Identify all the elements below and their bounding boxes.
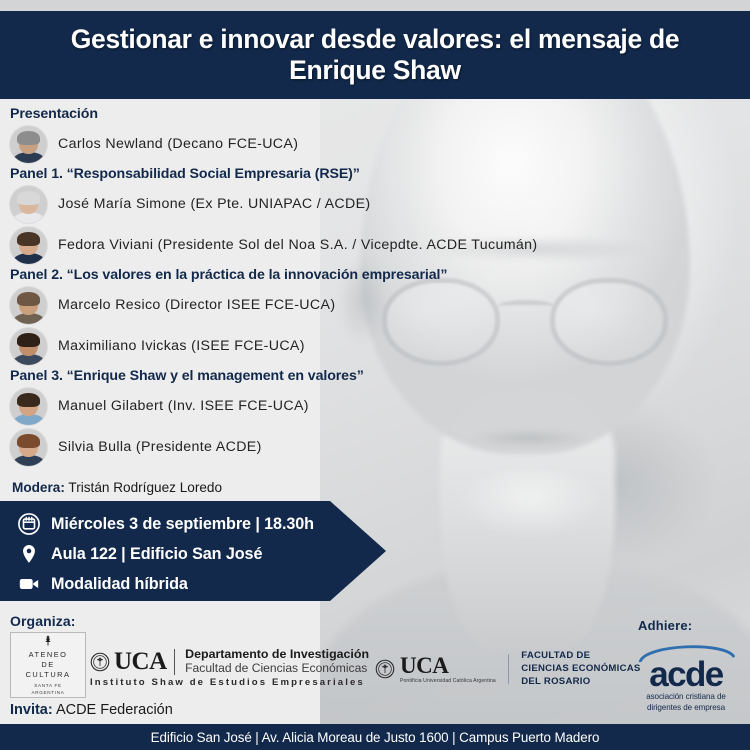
moderator-name: Tristán Rodríguez Loredo: [68, 480, 222, 495]
uca-rosario-line-2: CIENCIAS ECONÓMICAS: [521, 663, 640, 676]
organiza-label: Organiza:: [10, 613, 75, 629]
moderator-label: Modera:: [12, 480, 65, 495]
invita-label-bold: Invita:: [10, 702, 53, 718]
uca-rosario-seal-icon: [375, 659, 395, 679]
invita-value: ACDE Federación: [56, 702, 173, 718]
acde-tagline-1: asociación cristiana de: [632, 692, 740, 702]
avatar-hair: [17, 393, 40, 407]
page-title: Gestionar e innovar desde valores: el me…: [26, 24, 724, 85]
uca-seal-icon: [90, 652, 110, 672]
avatar-manuel-gilabert: [10, 388, 47, 425]
avatar-marcelo-resico: [10, 287, 47, 324]
uca-rosario-tiny-text: Pontificia Universidad Católica Argentin…: [400, 678, 496, 684]
avatar-hair: [17, 232, 40, 246]
acde-tagline-2: dirigentes de empresa: [632, 703, 740, 713]
video-camera-icon: [18, 573, 40, 595]
speaker-row: Maximiliano Ivickas (ISEE FCE-UCA): [10, 327, 640, 365]
ateneo-sub-1: SANTA FE: [34, 683, 61, 689]
programme-list: PresentaciónCarlos Newland (Decano FCE-U…: [0, 104, 640, 495]
top-strip: [0, 0, 750, 11]
panel-heading: Panel 3. “Enrique Shaw y el management e…: [10, 368, 640, 384]
uca-rosario-line-3: DEL ROSARIO: [521, 676, 640, 689]
avatar-fedora-viviani: [10, 227, 47, 264]
speaker-name: Maximiliano Ivickas (ISEE FCE-UCA): [58, 338, 305, 354]
speaker-name: José María Simone (Ex Pte. UNIAPAC / ACD…: [58, 196, 370, 212]
speaker-row: Silvia Bulla (Presidente ACDE): [10, 428, 640, 466]
event-poster: Gestionar e innovar desde valores: el me…: [0, 0, 750, 750]
speaker-row: Fedora Viviani (Presidente Sol del Noa S…: [10, 226, 640, 264]
uca-shaw-divider: [174, 649, 176, 675]
speaker-name: Fedora Viviani (Presidente Sol del Noa S…: [58, 237, 537, 253]
footer-bar: Edificio San José | Av. Alicia Moreau de…: [0, 724, 750, 750]
speaker-name: Manuel Gilabert (Inv. ISEE FCE-UCA): [58, 398, 309, 414]
footer-address-text: Edificio San José | Av. Alicia Moreau de…: [151, 730, 600, 745]
uca-shaw-text-block: Departamento de Investigación Facultad d…: [185, 648, 369, 675]
avatar-hair: [17, 191, 40, 205]
uca-rosario-faculty-block: FACULTAD DE CIENCIAS ECONÓMICAS DEL ROSA…: [521, 650, 640, 689]
speaker-name: Carlos Newland (Decano FCE-UCA): [58, 136, 298, 152]
avatar-hair: [17, 292, 40, 306]
logo-uca-instituto-shaw: UCA Departamento de Investigación Facult…: [90, 648, 369, 688]
uca-rosario-wordmark-block: UCA Pontificia Universidad Católica Arge…: [400, 654, 496, 684]
ateneo-sub-2: ARGENTINA: [31, 690, 64, 696]
event-date-text: Miércoles 3 de septiembre | 18.30h: [51, 515, 314, 534]
uca-shaw-wordmark: UCA: [114, 649, 167, 674]
panel-heading: Panel 1. “Responsabilidad Social Empresa…: [10, 166, 640, 182]
info-row-date: Miércoles 3 de septiembre | 18.30h: [18, 510, 386, 538]
avatar-silvia-bulla: [10, 429, 47, 466]
panel-heading: Panel 2. “Los valores en la práctica de …: [10, 267, 640, 283]
title-banner: Gestionar e innovar desde valores: el me…: [0, 11, 750, 99]
speaker-row: José María Simone (Ex Pte. UNIAPAC / ACD…: [10, 185, 640, 223]
speaker-name: Silvia Bulla (Presidente ACDE): [58, 439, 262, 455]
speaker-row: Carlos Newland (Decano FCE-UCA): [10, 125, 640, 163]
speaker-row: Manuel Gilabert (Inv. ISEE FCE-UCA): [10, 387, 640, 425]
uca-shaw-main-row: UCA Departamento de Investigación Facult…: [90, 648, 369, 675]
panel-heading: Presentación: [10, 106, 640, 122]
calendar-icon: [18, 513, 40, 535]
logo-uca-rosario: UCA Pontificia Universidad Católica Arge…: [375, 650, 641, 689]
avatar-carlos-newland: [10, 126, 47, 163]
avatar-jose-maria-simone: [10, 186, 47, 223]
uca-shaw-subtitle: Facultad de Ciencias Económicas: [185, 662, 369, 676]
speaker-name: Marcelo Resico (Director ISEE FCE-UCA): [58, 297, 335, 313]
speaker-row: Marcelo Resico (Director ISEE FCE-UCA): [10, 286, 640, 324]
uca-rosario-wordmark: UCA: [400, 654, 496, 677]
uca-rosario-line-1: FACULTAD DE: [521, 650, 640, 663]
leaf-icon: [42, 634, 54, 647]
ateneo-line-2: DE: [41, 660, 54, 669]
invita-label: Invita: ACDE Federación: [10, 702, 173, 718]
logo-acde: acde asociación cristiana de dirigentes …: [632, 640, 740, 713]
info-row-place: Aula 122 | Edificio San José: [18, 540, 386, 568]
event-place-text: Aula 122 | Edificio San José: [51, 545, 262, 564]
avatar-hair: [17, 434, 40, 448]
event-info-block: Miércoles 3 de septiembre | 18.30h Aula …: [0, 501, 386, 601]
avatar-maximiliano-ivickas: [10, 328, 47, 365]
uca-shaw-footer: Instituto Shaw de Estudios Empresariales: [90, 677, 369, 688]
info-row-modality: Modalidad híbrida: [18, 570, 386, 598]
ateneo-line-1: ATENEO: [29, 650, 68, 659]
adhiere-label: Adhiere:: [638, 618, 692, 633]
logo-ateneo-de-cultura: ATENEO DE CULTURA SANTA FE ARGENTINA: [10, 632, 86, 698]
uca-shaw-title: Departamento de Investigación: [185, 648, 369, 662]
location-pin-icon: [18, 543, 40, 565]
avatar-hair: [17, 333, 40, 347]
uca-rosario-divider: [508, 654, 509, 684]
avatar-hair: [17, 131, 40, 145]
moderator-line: Modera: Tristán Rodríguez Loredo: [10, 480, 640, 495]
acde-wordmark: acde: [632, 659, 740, 691]
event-modality-text: Modalidad híbrida: [51, 575, 188, 594]
ateneo-line-3: CULTURA: [26, 670, 71, 679]
